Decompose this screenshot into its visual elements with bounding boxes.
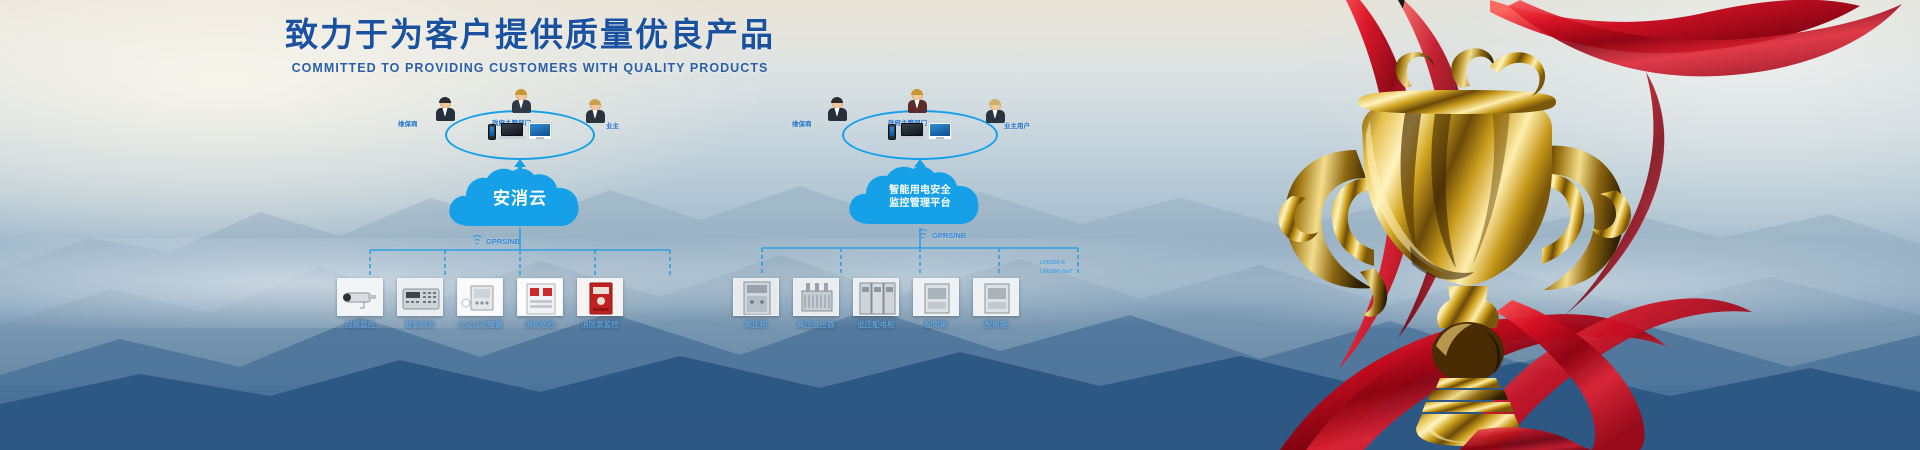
fire-alarm-panel-icon: [457, 278, 503, 316]
wifi-signal-icon: [916, 230, 929, 241]
right-equipment-1: 高压变压器: [790, 278, 842, 330]
left-device-cluster: [488, 122, 552, 140]
inspection-cabinet-icon: [517, 278, 563, 316]
right-cloud-platform: 智能用电安全 监控管理平台: [845, 166, 995, 228]
left-equipment-caption-0: 视频监控: [334, 319, 386, 330]
left-gprs-link: GPRS/NB: [470, 236, 520, 247]
right-user-label-0: 维保商: [792, 118, 812, 128]
right-equipment-3: 配电箱: [910, 278, 962, 330]
low-voltage-cabinet-icon: [853, 278, 899, 316]
distribution-box-icon: [913, 278, 959, 316]
left-equipment-2: 火灾自动报警: [454, 278, 506, 330]
left-system-diagram: 维保商 政府主管部门 业主: [330, 88, 710, 428]
right-equipment-row: 高压柜 高压变压器: [726, 278, 1026, 330]
left-user-owner: 业主: [582, 100, 608, 123]
promotional-banner: 致力于为客户提供质量优良产品 COMMITTED TO PROVIDING CU…: [0, 0, 1920, 450]
left-gprs-label: GPRS/NB: [486, 237, 520, 246]
right-equipment-2: 低压配电柜: [850, 278, 902, 330]
right-cloud-label: 智能用电安全 监控管理平台: [889, 184, 951, 211]
person-body-icon: [908, 100, 927, 113]
monitor-icon: [528, 122, 552, 140]
person-hair-icon: [911, 89, 923, 95]
person-hair-icon: [989, 99, 1001, 105]
high-voltage-cabinet-icon: [733, 278, 779, 316]
headline-block: 致力于为客户提供质量优良产品 COMMITTED TO PROVIDING CU…: [0, 14, 1060, 75]
right-cloud-label-line2: 监控管理平台: [889, 197, 951, 211]
right-gprs-label: GPRS/NB: [932, 231, 966, 240]
right-user-ring: 维保商 政府主管部门 业主用户: [720, 88, 1120, 160]
person-body-icon: [436, 108, 455, 121]
smartphone-icon: [488, 124, 496, 140]
left-equipment-caption-3: 消防巡检: [514, 319, 566, 330]
right-equipment-caption-4: 配电箱: [970, 319, 1022, 330]
left-user-ring: 维保商 政府主管部门 业主: [330, 88, 710, 160]
person-hair-icon: [515, 89, 527, 95]
left-user-label-2: 业主: [606, 120, 619, 130]
right-equipment-caption-0: 高压柜: [730, 319, 782, 330]
left-equipment-row: 视频监控 智能网关: [330, 278, 630, 330]
right-equipment-caption-1: 高压变压器: [790, 319, 842, 330]
distribution-box-icon: [973, 278, 1019, 316]
fire-pump-icon: [577, 278, 623, 316]
left-equipment-caption-2: 火灾自动报警: [454, 319, 506, 330]
transformer-icon: [793, 278, 839, 316]
right-device-cluster: [888, 122, 952, 140]
gateway-device-icon: [397, 278, 443, 316]
laptop-icon: [499, 123, 525, 140]
person-hair-icon: [589, 99, 601, 105]
person-body-icon: [986, 110, 1005, 123]
right-user-government: 政府主管部门: [904, 90, 930, 113]
headline-english: COMMITTED TO PROVIDING CUSTOMERS WITH QU…: [0, 61, 1060, 75]
person-body-icon: [828, 108, 847, 121]
headline-chinese: 致力于为客户提供质量优良产品: [0, 14, 1060, 55]
left-equipment-3: 消防巡检: [514, 278, 566, 330]
left-user-label-0: 维保商: [398, 118, 418, 128]
person-body-icon: [586, 110, 605, 123]
person-hair-icon: [831, 97, 843, 103]
right-module-tag-1: LFD200-GnT: [1040, 269, 1073, 275]
right-equipment-4: 配电箱: [970, 278, 1022, 330]
smartphone-icon: [888, 124, 896, 140]
right-module-tag-0: LFD200-II: [1040, 260, 1065, 266]
right-gprs-link: GPRS/NB: [916, 230, 966, 241]
wifi-signal-icon: [470, 236, 483, 247]
right-equipment-caption-2: 低压配电柜: [850, 319, 902, 330]
left-equipment-caption-1: 智能网关: [394, 319, 446, 330]
left-cloud-platform: 安消云: [445, 168, 595, 230]
right-user-owner: 业主用户: [982, 100, 1008, 123]
right-equipment-0: 高压柜: [730, 278, 782, 330]
cctv-camera-icon: [337, 278, 383, 316]
right-cloud-label-line1: 智能用电安全: [889, 184, 951, 198]
laptop-icon: [899, 123, 925, 140]
person-hair-icon: [439, 97, 451, 103]
right-system-diagram: 维保商 政府主管部门 业主用户: [720, 88, 1120, 428]
person-body-icon: [512, 100, 531, 113]
left-equipment-caption-4: 消防泵监控: [574, 319, 626, 330]
left-cloud-label: 安消云: [493, 188, 547, 211]
left-equipment-0: 视频监控: [334, 278, 386, 330]
left-user-government: 政府主管部门: [508, 90, 534, 113]
left-user-maintenance: 维保商: [432, 98, 458, 121]
left-equipment-1: 智能网关: [394, 278, 446, 330]
right-user-maintenance: 维保商: [824, 98, 850, 121]
right-equipment-caption-3: 配电箱: [910, 319, 962, 330]
monitor-icon: [928, 122, 952, 140]
right-user-label-2: 业主用户: [1004, 120, 1030, 130]
left-equipment-4: 消防泵监控: [574, 278, 626, 330]
hero-graphic: [1160, 0, 1920, 450]
